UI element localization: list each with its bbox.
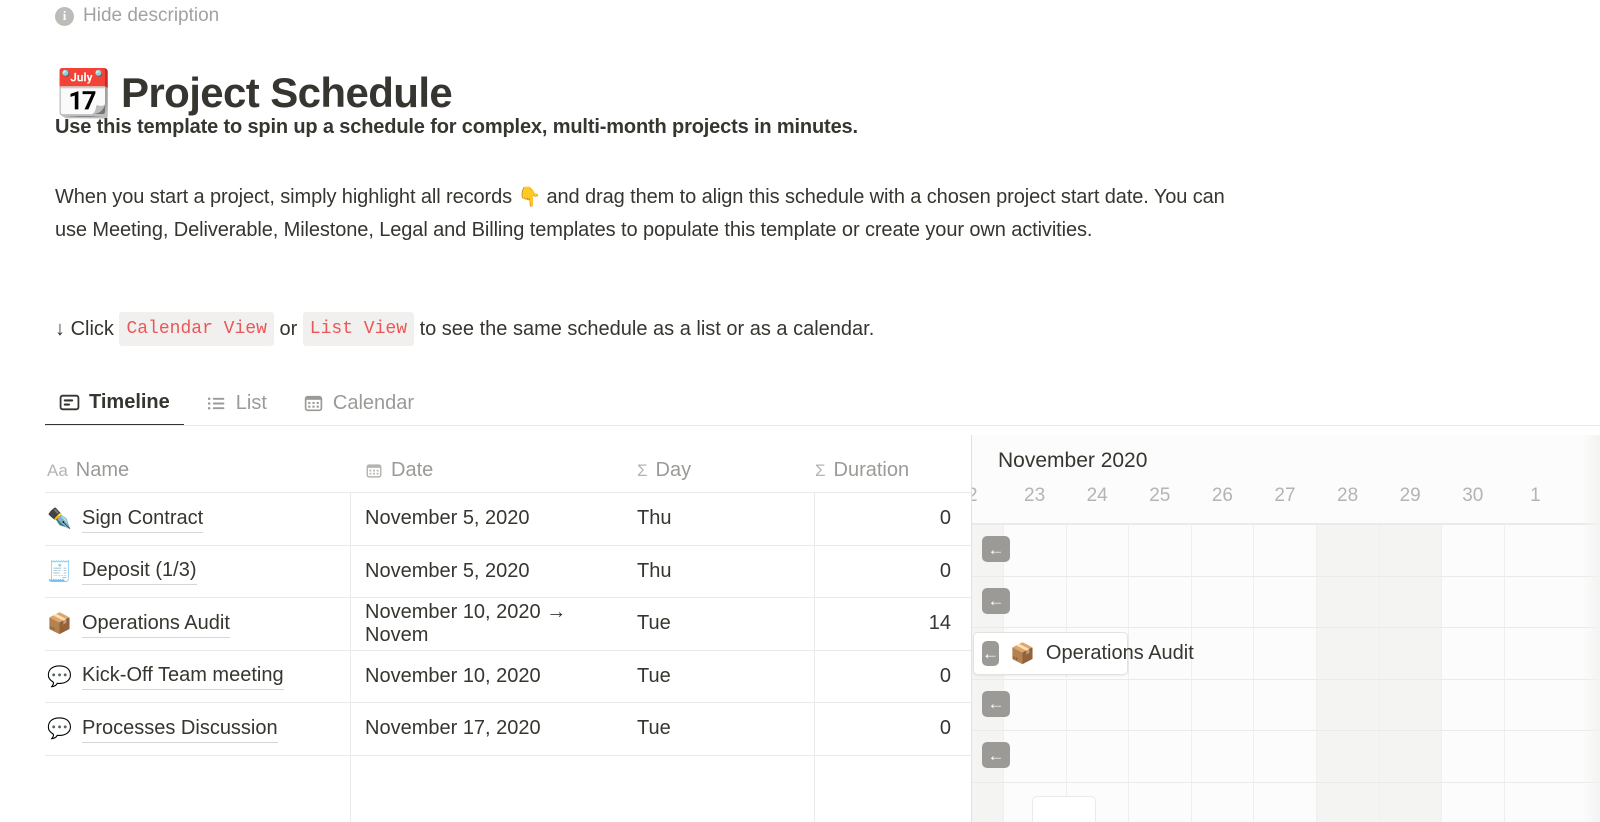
column-divider-name-date <box>350 492 351 822</box>
package-icon: 📦 <box>1010 641 1035 666</box>
timeline-row[interactable]: ← 📦 Operations Audit <box>972 627 1600 679</box>
timeline-day-tick: 26 <box>1191 485 1254 507</box>
timeline-drag-handle[interactable]: ← <box>982 536 1010 562</box>
row-duration-cell: 14 <box>745 598 973 650</box>
timeline-day-tick: 29 <box>1379 485 1442 507</box>
timeline-drag-handle[interactable]: ← <box>982 691 1010 717</box>
tab-calendar[interactable]: Calendar <box>289 380 428 426</box>
project-schedule-page: i Hide description 📆 Project Schedule Us… <box>0 0 1600 822</box>
lede-text: Use this template to spin up a schedule … <box>55 116 858 139</box>
timeline-day-tick: 25 <box>1129 485 1192 507</box>
timeline-day-tick: 28 <box>1316 485 1379 507</box>
timeline-day-tick: 27 <box>1254 485 1317 507</box>
column-divider-day-duration <box>814 492 815 822</box>
row-name-label[interactable]: Sign Contract <box>82 505 203 533</box>
timeline-month-label: November 2020 <box>998 449 1147 473</box>
row-duration-cell: 0 <box>745 546 973 598</box>
formula-icon: Σ <box>815 461 826 481</box>
table-row[interactable]: 🧾 Deposit (1/3) November 5, 2020 Thu 0 <box>45 545 972 598</box>
row-duration-cell: 0 <box>745 703 973 755</box>
hide-description-label: Hide description <box>83 5 219 27</box>
click-instruction-line: ↓ Click Calendar View or List View to se… <box>55 312 874 346</box>
timeline-row[interactable]: ← <box>972 576 1600 628</box>
description-paragraph: When you start a project, simply highlig… <box>55 181 1255 247</box>
timeline-row-divider <box>972 679 1600 680</box>
list-icon <box>206 393 227 414</box>
timeline-right-fade <box>1582 435 1600 822</box>
column-header-date[interactable]: Date <box>365 459 433 482</box>
timeline-event-bar-partial[interactable] <box>1032 796 1096 822</box>
timeline-row-partial[interactable] <box>972 782 1600 822</box>
timeline-row-divider <box>972 627 1600 628</box>
row-name-label[interactable]: Deposit (1/3) <box>82 557 197 585</box>
info-icon: i <box>55 7 74 26</box>
click-label: Click <box>71 314 120 344</box>
pen-nib-icon: ✒️ <box>47 506 71 531</box>
timeline-day-tick: 30 <box>1442 485 1505 507</box>
timeline-icon <box>59 392 80 413</box>
paragraph-part-1: When you start a project, simply highlig… <box>55 186 517 208</box>
timeline-row-divider <box>972 782 1600 783</box>
column-header-duration[interactable]: Σ Duration <box>815 459 909 482</box>
row-date-cell[interactable]: November 10, 2020 → Novem <box>365 598 625 650</box>
timeline-grid: Aa Name Date Σ Day Σ Duration <box>0 435 1600 822</box>
formula-icon: Σ <box>637 461 648 481</box>
click-tail-label: to see the same schedule as a list or as… <box>414 314 874 344</box>
timeline-panel: November 2020 2 23 24 25 26 27 28 29 30 … <box>972 435 1600 822</box>
table-row[interactable]: ✒️ Sign Contract November 5, 2020 Thu 0 <box>45 492 972 545</box>
row-name-label[interactable]: Kick-Off Team meeting <box>82 662 284 690</box>
timeline-day-header: 2 23 24 25 26 27 28 29 30 1 <box>972 485 1600 523</box>
row-date-cell[interactable]: November 17, 2020 <box>365 703 625 755</box>
table-row-partial[interactable] <box>45 755 972 808</box>
row-date-cell[interactable]: November 5, 2020 <box>365 546 625 598</box>
table-row[interactable]: 📦 Operations Audit November 10, 2020 → N… <box>45 597 972 650</box>
column-header-day-label: Day <box>656 459 692 482</box>
calendar-icon <box>303 393 324 414</box>
row-name-label[interactable]: Processes Discussion <box>82 715 278 743</box>
table-row[interactable]: 💬 Kick-Off Team meeting November 10, 202… <box>45 650 972 703</box>
pointing-down-icon: 👇 <box>517 187 541 208</box>
timeline-day-tick: 24 <box>1066 485 1129 507</box>
calendar-emoji-icon: 📆 <box>55 70 105 116</box>
timeline-event-label: Operations Audit <box>1046 642 1194 665</box>
list-view-code[interactable]: List View <box>303 312 414 346</box>
column-header-day[interactable]: Σ Day <box>637 459 691 482</box>
timeline-row-divider <box>972 730 1600 731</box>
row-date-cell[interactable]: November 10, 2020 <box>365 651 625 703</box>
text-type-icon: Aa <box>47 461 68 481</box>
timeline-day-tick: 1 <box>1504 485 1567 507</box>
timeline-drag-handle[interactable]: ← <box>982 742 1010 768</box>
tab-list-label: List <box>236 392 267 415</box>
column-header-duration-label: Duration <box>834 459 910 482</box>
table-row[interactable]: 💬 Processes Discussion November 17, 2020… <box>45 702 972 755</box>
row-name-cell[interactable]: 💬 Kick-Off Team meeting <box>47 651 347 703</box>
arrow-down-icon: ↓ <box>55 314 65 344</box>
speech-balloon-icon: 💬 <box>47 664 71 689</box>
receipt-icon: 🧾 <box>47 559 71 584</box>
timeline-row[interactable]: ← <box>972 524 1600 576</box>
timeline-drag-handle[interactable]: ← <box>982 641 999 666</box>
timeline-row[interactable]: ← <box>972 730 1600 782</box>
row-name-cell[interactable]: ✒️ Sign Contract <box>47 493 347 545</box>
row-name-cell[interactable]: 💬 Processes Discussion <box>47 703 347 755</box>
row-name-cell[interactable]: 📦 Operations Audit <box>47 598 347 650</box>
table-header-row: Aa Name Date Σ Day Σ Duration <box>45 435 972 492</box>
column-header-name[interactable]: Aa Name <box>47 459 129 482</box>
package-icon: 📦 <box>47 611 71 636</box>
column-header-name-label: Name <box>76 459 129 482</box>
row-name-label[interactable]: Operations Audit <box>82 610 230 638</box>
tab-timeline-label: Timeline <box>89 391 170 414</box>
timeline-day-tick: 23 <box>1003 485 1066 507</box>
timeline-row-divider <box>972 576 1600 577</box>
calendar-icon <box>365 462 383 480</box>
row-name-cell[interactable]: 🧾 Deposit (1/3) <box>47 546 347 598</box>
row-duration-cell: 0 <box>745 651 973 703</box>
tab-calendar-label: Calendar <box>333 392 414 415</box>
timeline-row[interactable]: ← <box>972 679 1600 731</box>
records-table: Aa Name Date Σ Day Σ Duration <box>45 435 972 807</box>
calendar-view-code[interactable]: Calendar View <box>119 312 273 346</box>
timeline-body[interactable]: ← ← ← 📦 Operations Audit ← <box>972 524 1600 822</box>
speech-balloon-icon: 💬 <box>47 716 71 741</box>
timeline-event-bar[interactable]: ← 📦 Operations Audit <box>973 632 1128 675</box>
timeline-drag-handle[interactable]: ← <box>982 588 1010 614</box>
or-label: or <box>274 314 303 344</box>
view-tabs: Timeline List Calendar <box>45 378 428 426</box>
page-title: Project Schedule <box>121 70 452 116</box>
column-header-date-label: Date <box>391 459 433 482</box>
hide-description-toggle[interactable]: i Hide description <box>55 5 219 27</box>
row-duration-cell: 0 <box>745 493 973 545</box>
tab-list[interactable]: List <box>192 380 281 426</box>
tabs-divider <box>45 425 1600 426</box>
tab-timeline[interactable]: Timeline <box>45 380 184 426</box>
timeline-row-divider <box>972 524 1600 525</box>
timeline-day-tick: 2 <box>972 485 1004 507</box>
row-date-cell[interactable]: November 5, 2020 <box>365 493 625 545</box>
